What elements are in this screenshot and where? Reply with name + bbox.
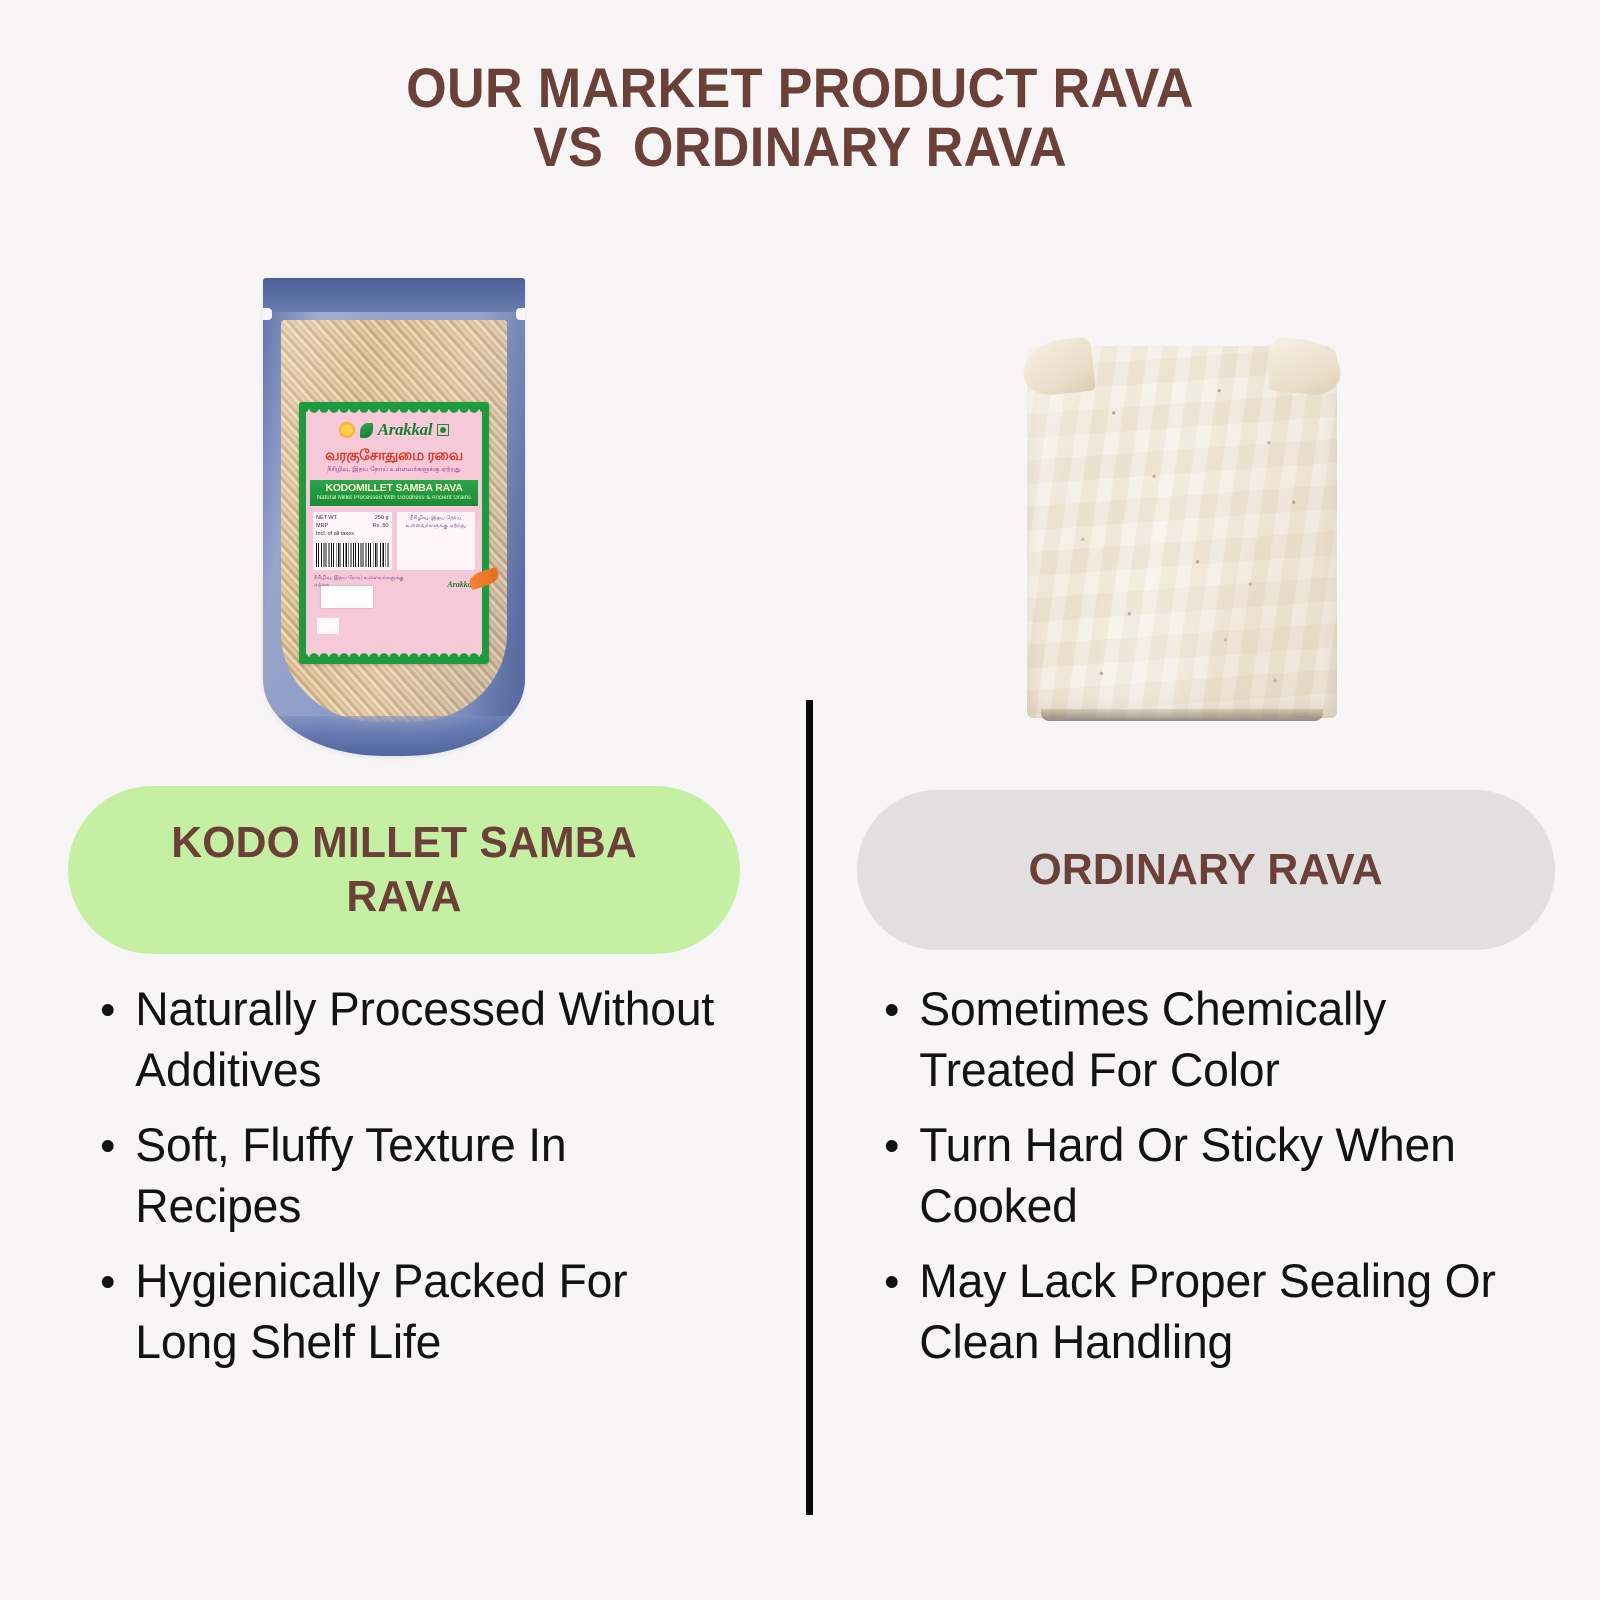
right-drawbacks-list: Sometimes Chemically Treated For Color T… [872, 978, 1552, 1387]
list-item: Soft, Fluffy Texture In Recipes [88, 1114, 738, 1236]
pouch-small-tag [317, 618, 339, 634]
bag-bottom-seam [1041, 709, 1323, 721]
sunburst-icon [339, 422, 355, 438]
label-brand-name: Arakkal [378, 420, 433, 440]
badge-kodo-millet-samba-rava: KODO MILLET SAMBA RAVA [68, 786, 740, 954]
list-item: May Lack Proper Sealing Or Clean Handlin… [872, 1250, 1542, 1372]
label-english-subtitle: Natural Millet Processed With Goodness &… [312, 495, 476, 502]
label-english-name: KODOMILLET SAMBA RAVA [312, 483, 476, 494]
leaf-icon [360, 423, 373, 438]
left-benefits-list: Naturally Processed Without Additives So… [88, 978, 748, 1387]
ordinary-rava-bag-image [1017, 318, 1347, 718]
left-column: Arakkal வரகுசோதுமை ரவை நீரிழிவு, இதய நோய… [0, 0, 806, 1600]
price-sticker [321, 586, 373, 608]
badge-kodo-millet-label: KODO MILLET SAMBA RAVA [171, 816, 637, 923]
label-mrp-value: Rs. 50 [373, 523, 389, 531]
label-benefits-box: நீரிழிவு, இதய நோய் உள்ளவர்களுக்கு ஏற்றது [397, 512, 476, 570]
plastic-bag-body [1027, 346, 1337, 718]
label-tamil-title: வரகுசோதுமை ரவை [310, 448, 478, 463]
bag-corner-ear-right [1268, 336, 1343, 397]
pouch-tear-notch-left [263, 308, 272, 320]
label-info-grid: NET WT. 250 g MRP Rs. 50 Incl. of all ta… [310, 512, 478, 570]
label-mrp-key: MRP [316, 523, 328, 531]
badge-ordinary-rava-label: ORDINARY RAVA [1029, 843, 1383, 897]
column-divider [806, 700, 813, 1515]
badge-ordinary-rava: ORDINARY RAVA [857, 790, 1555, 950]
pouch-top-seal [263, 278, 525, 312]
label-english-band: KODOMILLET SAMBA RAVA Natural Millet Pro… [310, 480, 478, 506]
kodo-millet-pouch-image: Arakkal வரகுசோதுமை ரவை நீரிழிவு, இதய நோய… [263, 278, 525, 756]
pouch-tear-notch-right [516, 308, 525, 320]
label-netwt-key: NET WT. [316, 515, 338, 523]
bag-corner-ear-left [1020, 336, 1095, 397]
label-benefit-text: நீரிழிவு, இதய நோய் உள்ளவர்களுக்கு ஏற்றது [400, 515, 473, 531]
list-item: Sometimes Chemically Treated For Color [872, 978, 1542, 1100]
list-item: Hygienically Packed For Long Shelf Life [88, 1250, 738, 1372]
list-item: Turn Hard Or Sticky When Cooked [872, 1114, 1542, 1236]
barcode-icon [316, 543, 389, 567]
label-tax-note: Incl. of all taxes [316, 531, 389, 539]
pouch-body: Arakkal வரகுசோதுமை ரவை நீரிழிவு, இதய நோய… [263, 278, 525, 756]
list-item: Naturally Processed Without Additives [88, 978, 738, 1100]
label-brand-row: Arakkal [310, 415, 478, 445]
comparison-poster: OUR MARKET PRODUCT RAVA VS ORDINARY RAVA [0, 0, 1600, 1600]
label-netwt-value: 250 g [375, 515, 389, 523]
label-weight-box: NET WT. 250 g MRP Rs. 50 Incl. of all ta… [313, 512, 392, 570]
label-tamil-subtitle: நீரிழிவு, இதய நோய் உள்ளவர்களுக்கு ஏற்றது [310, 466, 478, 475]
veg-mark-icon [437, 424, 449, 436]
pouch-bottom-gusset [271, 716, 517, 756]
